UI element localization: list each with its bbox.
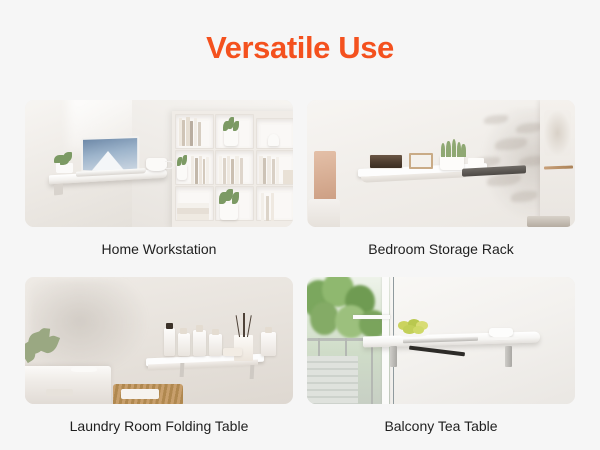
page-title: Versatile Use	[0, 28, 600, 68]
use-case-card[interactable]: Home Workstation	[25, 100, 293, 259]
balcony-tea-table-image[interactable]	[307, 277, 575, 404]
bedroom-storage-rack-image[interactable]	[307, 100, 575, 227]
scene-laundry-room	[25, 277, 293, 404]
scene-balcony-tea-table	[307, 277, 575, 404]
folded-towel	[71, 366, 98, 372]
wall-relief-decor	[544, 110, 571, 156]
washing-machine	[25, 366, 111, 404]
use-case-card[interactable]: Balcony Tea Table	[307, 277, 575, 436]
home-workstation-image[interactable]	[25, 100, 293, 227]
speaker	[369, 154, 404, 169]
laptop-screen	[81, 136, 139, 174]
bottle	[261, 332, 276, 356]
plant-pot	[440, 156, 464, 170]
bottle	[193, 330, 206, 355]
use-case-gallery: Home Workstation	[25, 100, 575, 436]
bottle	[209, 334, 222, 356]
coffee-mug	[146, 158, 167, 171]
versatile-use-page: Versatile Use	[0, 0, 600, 450]
scene-home-workstation	[25, 100, 293, 227]
chair	[308, 199, 340, 227]
balcony-panel	[307, 356, 358, 404]
scene-bedroom-storage-rack	[307, 100, 575, 227]
use-case-caption: Balcony Tea Table	[307, 416, 575, 436]
laundry-room-folding-table-image[interactable]	[25, 277, 293, 404]
use-case-caption: Laundry Room Folding Table	[25, 416, 293, 436]
bottle	[178, 333, 190, 356]
magazine-stack	[527, 216, 570, 227]
use-case-caption: Home Workstation	[25, 239, 293, 259]
picture-frame	[409, 153, 433, 169]
use-case-card[interactable]: Laundry Room Folding Table	[25, 277, 293, 436]
use-case-card[interactable]: Bedroom Storage Rack	[307, 100, 575, 259]
bottle	[164, 328, 175, 356]
saucer	[484, 337, 519, 340]
bookshelf	[172, 111, 293, 227]
use-case-caption: Bedroom Storage Rack	[307, 239, 575, 259]
